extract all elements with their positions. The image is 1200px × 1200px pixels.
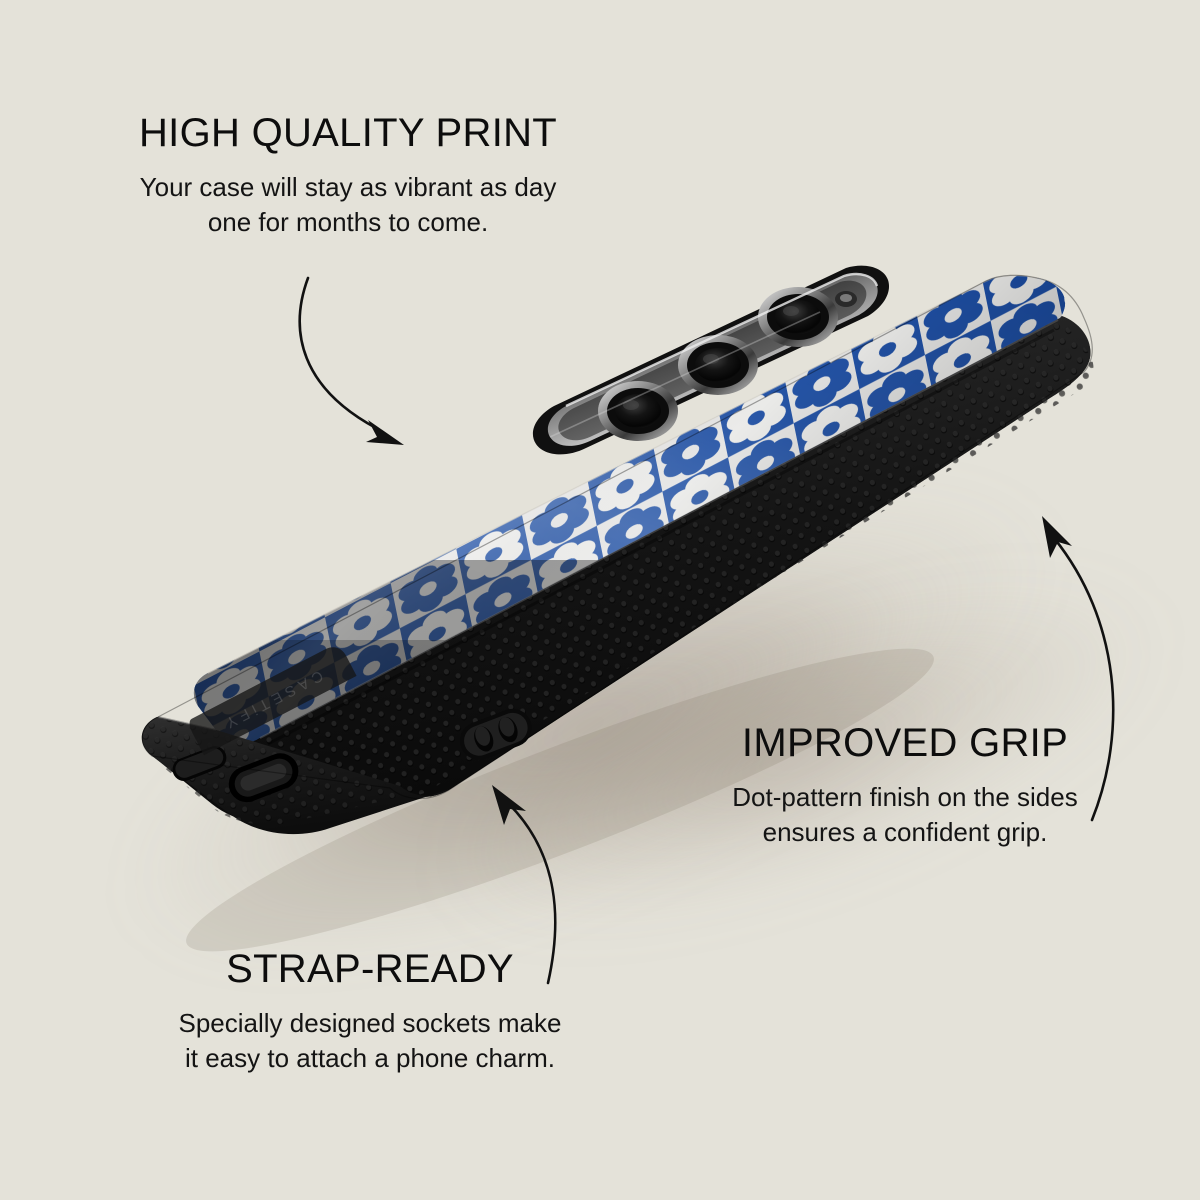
camera-lens-icon: [678, 335, 758, 395]
strap-socket-icon: [455, 703, 538, 765]
camera-lens-icon: [598, 381, 678, 441]
feature-title: IMPROVED GRIP: [640, 722, 1170, 764]
feature-description: Your case will stay as vibrant as day on…: [38, 170, 658, 240]
feature-description-line: it easy to attach a phone charm.: [90, 1041, 650, 1076]
feature-description-line: Dot-pattern finish on the sides: [640, 780, 1170, 815]
embossed-brand-mark: CASETiFY: [186, 642, 356, 755]
camera-module: [533, 266, 889, 455]
feature-description: Dot-pattern finish on the sides ensures …: [640, 780, 1170, 850]
feature-title: HIGH QUALITY PRINT: [38, 112, 658, 154]
feature-description-line: Your case will stay as vibrant as day: [38, 170, 658, 205]
feature-high-quality-print: HIGH QUALITY PRINT Your case will stay a…: [38, 112, 658, 240]
curved-arrow-icon-print: [280, 270, 470, 470]
camera-flash-icon: [835, 291, 857, 307]
bottom-edge: [100, 680, 520, 880]
speaker-slot-icon: [169, 743, 230, 785]
feature-description: Specially designed sockets make it easy …: [90, 1006, 650, 1076]
svg-text:CASETiFY: CASETiFY: [219, 667, 326, 734]
feature-description-line: ensures a confident grip.: [640, 815, 1170, 850]
feature-description-line: Specially designed sockets make: [90, 1006, 650, 1041]
feature-description-line: one for months to come.: [38, 205, 658, 240]
feature-improved-grip: IMPROVED GRIP Dot-pattern finish on the …: [640, 722, 1170, 850]
feature-title: STRAP-READY: [90, 948, 650, 990]
feature-strap-ready: STRAP-READY Specially designed sockets m…: [90, 948, 650, 1076]
infographic-canvas: CASETiFY HIGH QUALITY PRINT Your case wi…: [0, 0, 1200, 1200]
usb-c-port-icon: [224, 748, 304, 807]
camera-lens-icon: [758, 287, 838, 347]
